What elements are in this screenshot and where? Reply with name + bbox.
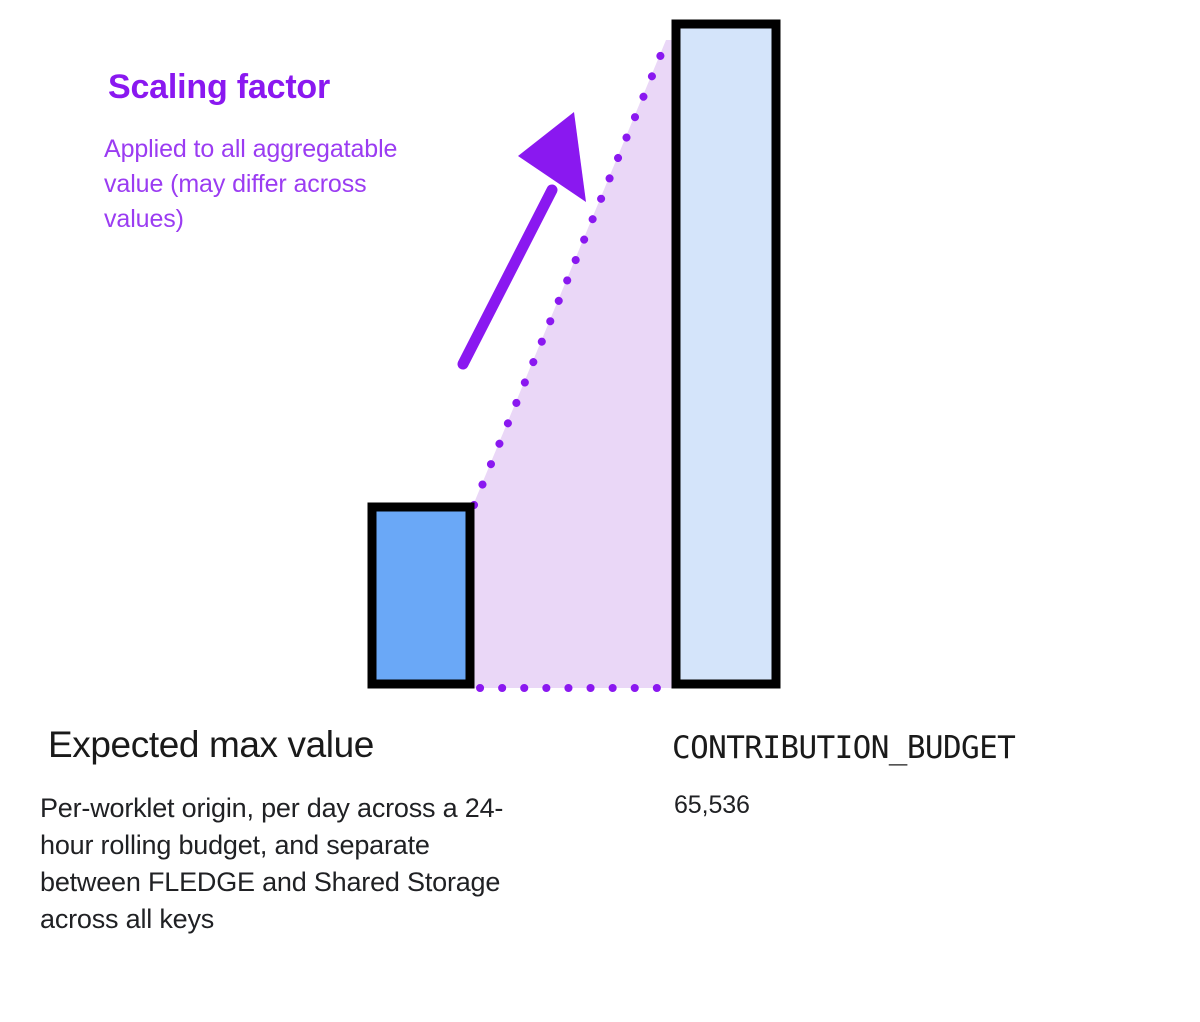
expected-max-value-bar xyxy=(372,507,470,684)
scaling-factor-title: Scaling factor xyxy=(108,66,434,108)
expected-max-value-title: Expected max value xyxy=(48,722,510,768)
scaling-factor-diagram: Scaling factor Applied to all aggregatab… xyxy=(0,0,1200,1022)
contribution-budget-label: CONTRIBUTION_BUDGET 65,536 xyxy=(672,710,1192,840)
expected-max-value-label: Expected max value Per-worklet origin, p… xyxy=(40,704,510,956)
scaling-factor-description: Applied to all aggregatable value (may d… xyxy=(104,132,434,237)
scaling-factor-annotation: Scaling factor Applied to all aggregatab… xyxy=(104,48,434,255)
expected-max-value-description: Per-worklet origin, per day across a 24-… xyxy=(40,790,510,938)
contribution-budget-title: CONTRIBUTION_BUDGET xyxy=(672,728,1192,768)
contribution-budget-value: 65,536 xyxy=(674,788,1192,822)
contribution-budget-bar xyxy=(676,24,776,684)
scaling-factor-arrow-shaft xyxy=(463,190,552,364)
